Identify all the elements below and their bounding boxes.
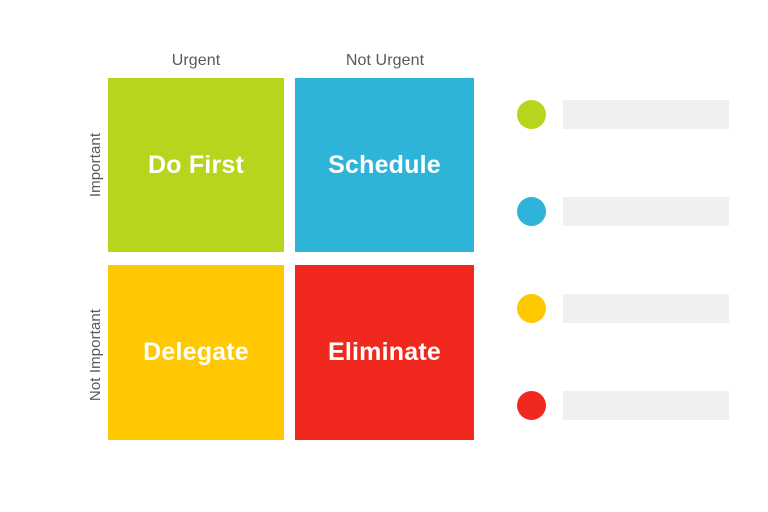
quadrant-label-schedule: Schedule [328, 151, 441, 180]
legend-dot-icon-schedule [517, 197, 546, 226]
legend-placeholder-bar [563, 197, 729, 226]
legend-placeholder-bar [563, 100, 729, 129]
column-header-not-urgent: Not Urgent [295, 50, 475, 72]
row-header-not-important: Not Important [85, 267, 107, 443]
legend-item-schedule[interactable] [517, 196, 729, 226]
quadrant-schedule[interactable]: Schedule [295, 78, 474, 252]
quadrant-do-first[interactable]: Do First [108, 78, 284, 252]
legend-placeholder-bar [563, 294, 729, 323]
legend-dot-icon-do-first [517, 100, 546, 129]
quadrant-label-delegate: Delegate [143, 338, 249, 367]
column-header-urgent: Urgent [108, 50, 284, 72]
quadrant-label-eliminate: Eliminate [328, 338, 441, 367]
quadrant-label-do-first: Do First [148, 151, 244, 180]
legend-item-delegate[interactable] [517, 293, 729, 323]
quadrant-delegate[interactable]: Delegate [108, 265, 284, 440]
legend-dot-icon-delegate [517, 294, 546, 323]
legend-item-do-first[interactable] [517, 99, 729, 129]
quadrant-eliminate[interactable]: Eliminate [295, 265, 474, 440]
eisenhower-matrix-diagram: Urgent Not Urgent Important Not Importan… [0, 0, 768, 512]
legend-dot-icon-eliminate [517, 391, 546, 420]
legend-placeholder-bar [563, 391, 729, 420]
row-header-important: Important [85, 77, 107, 253]
legend-item-eliminate[interactable] [517, 390, 729, 420]
